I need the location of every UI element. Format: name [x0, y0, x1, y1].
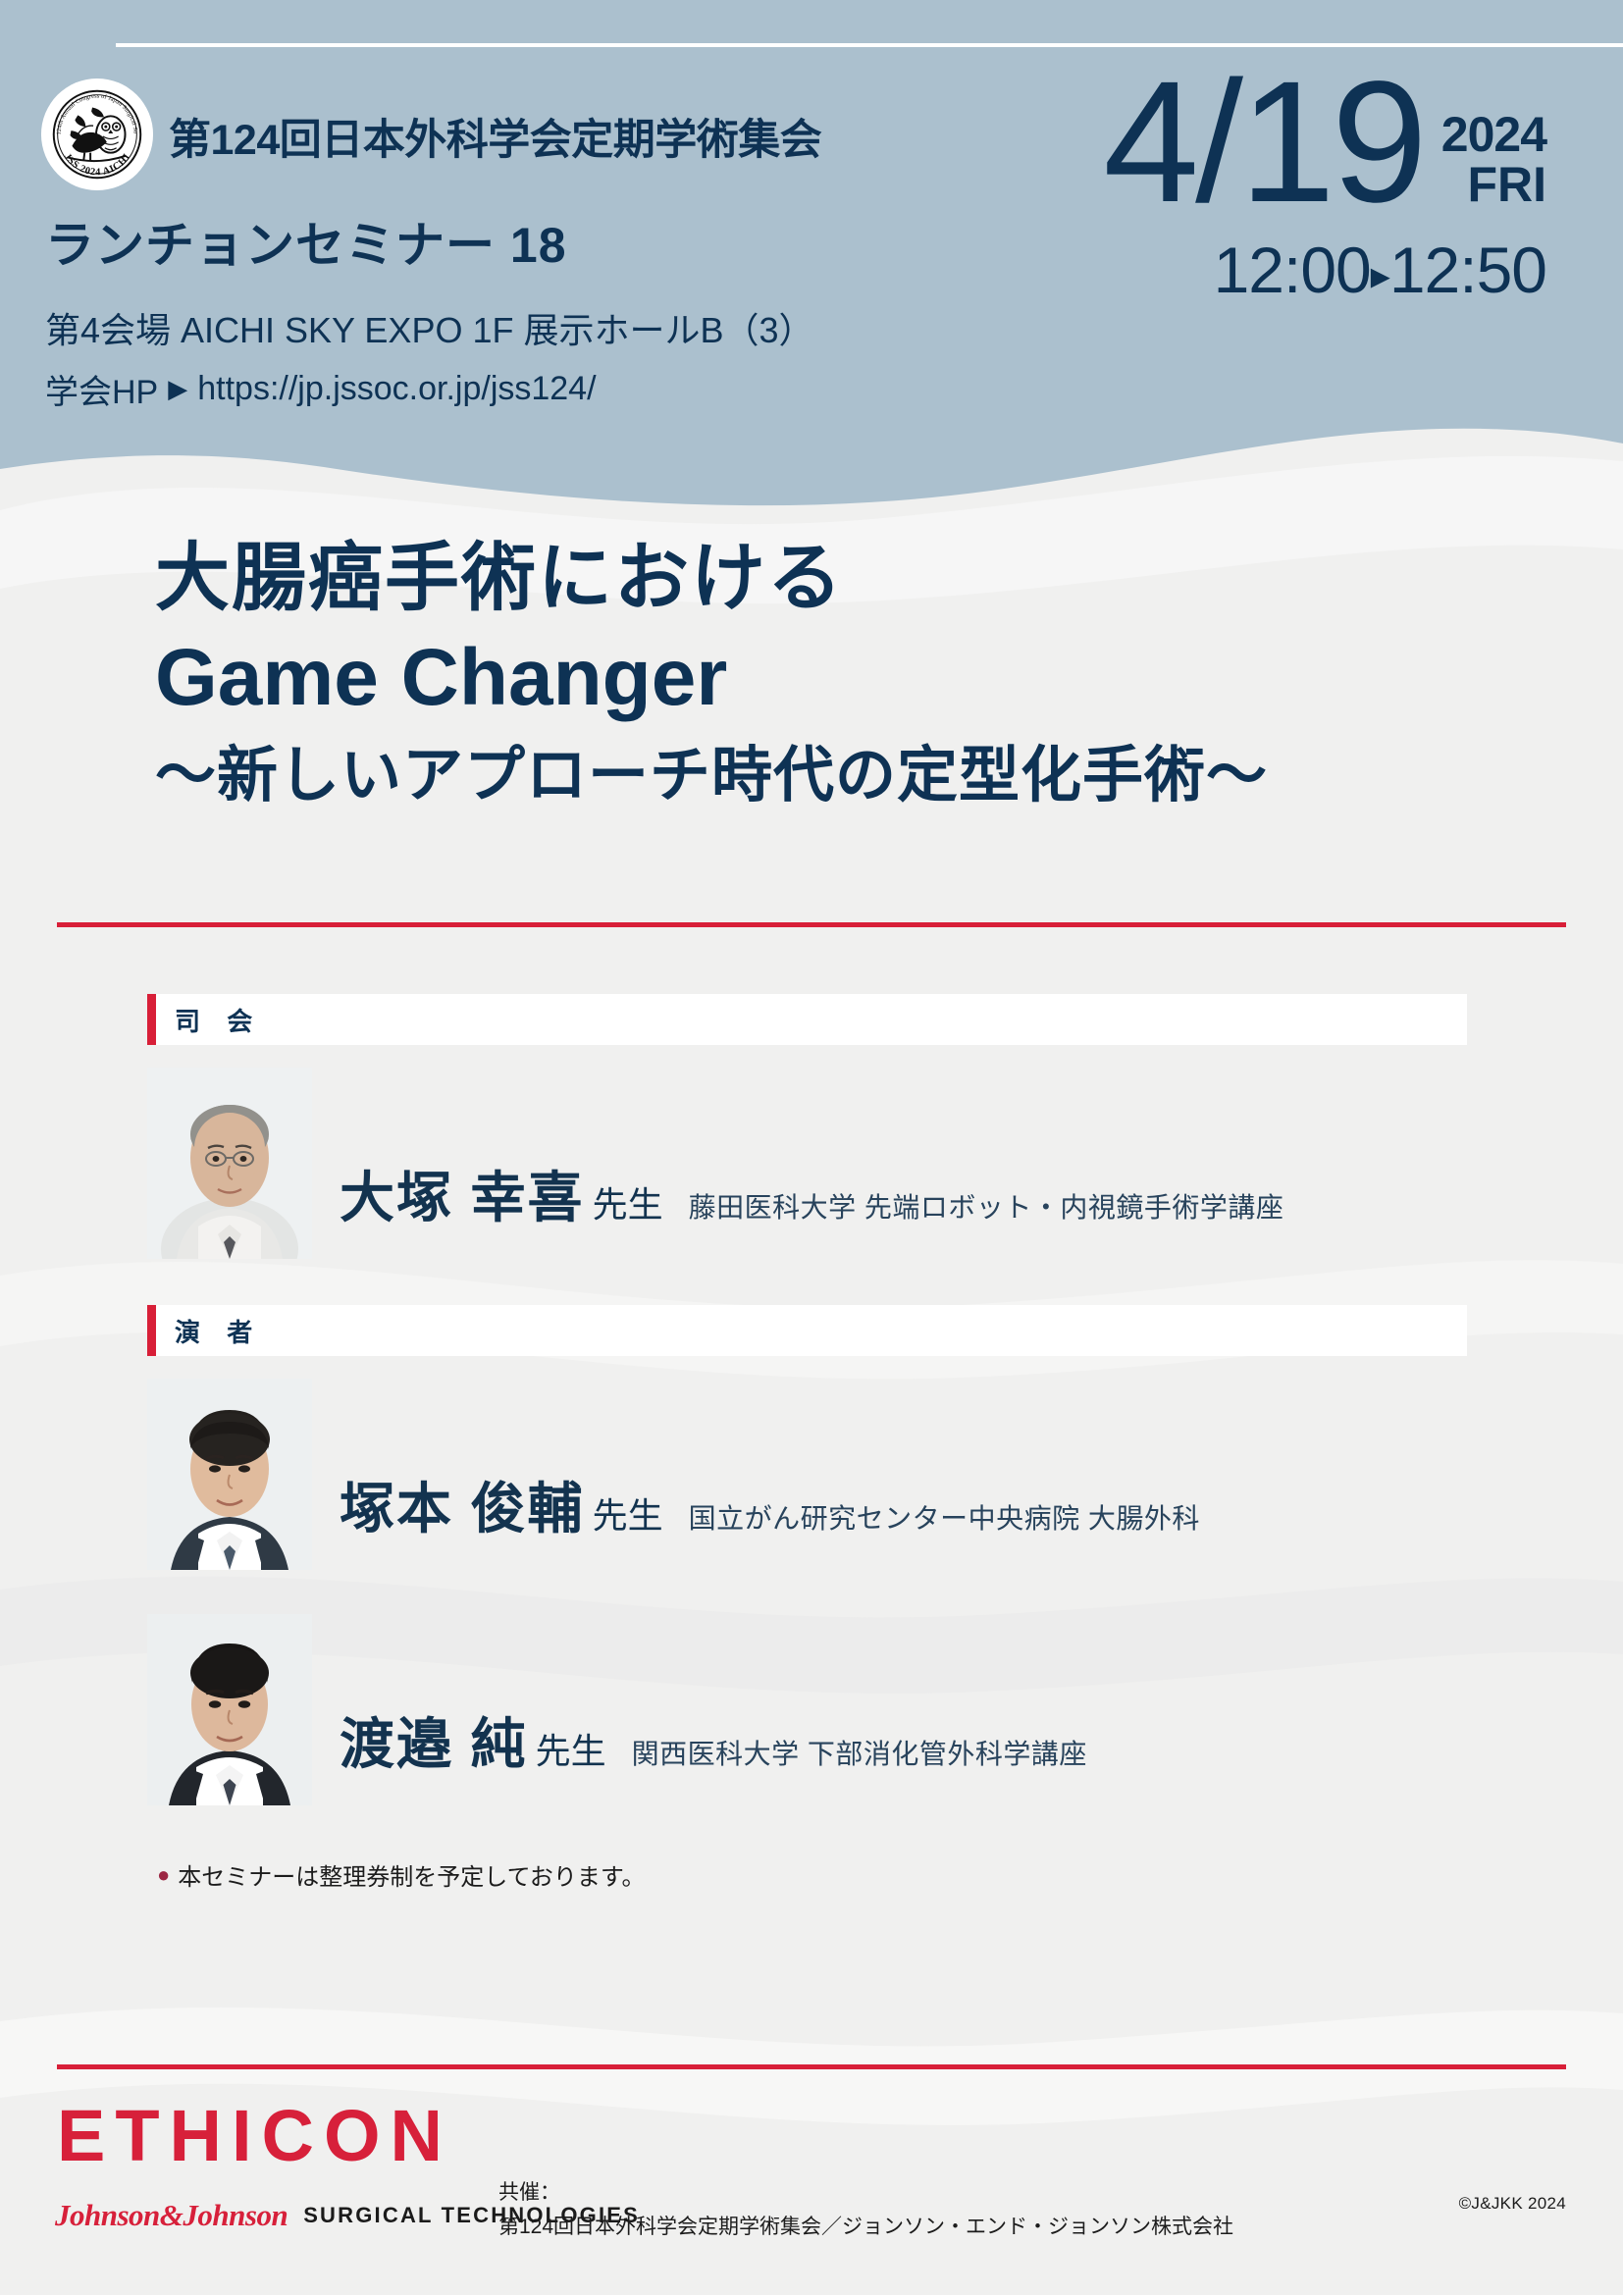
person-affiliation: 国立がん研究センター中央病院 大腸外科 — [689, 1497, 1200, 1537]
time-start: 12:00 — [1214, 234, 1371, 306]
divider-red-bottom — [57, 2064, 1566, 2069]
seminar-number: ランチョンセミナー 18 — [45, 206, 922, 277]
header-left-block: The 124th Annual Congress of Japan Surgi… — [39, 77, 922, 413]
person-name: 大塚 幸喜 — [340, 1154, 585, 1233]
role-label-speaker: 演 者 — [175, 1313, 262, 1349]
venue-line: 第4会場 AICHI SKY EXPO 1F 展示ホールB（3） — [45, 302, 922, 353]
jss-congress-logo-icon: The 124th Annual Congress of Japan Surgi… — [39, 77, 155, 192]
event-time-range: 12:00▸12:50 — [1103, 233, 1546, 307]
seminar-title-block: 大腸癌手術における Game Changer 〜新しいアプローチ時代の定型化手術… — [0, 535, 1623, 815]
note-text: 本セミナーは整理券制を予定しております。 — [178, 1857, 645, 1892]
person-row-speaker-1: 渡邉 純 先生 関西医科大学 下部消化管外科学講座 — [147, 1614, 1087, 1805]
divider-red-top — [57, 922, 1566, 927]
portrait-watanabe — [147, 1614, 312, 1805]
person-affiliation: 関西医科大学 下部消化管外科学講座 — [632, 1733, 1087, 1772]
cohost-value: 第124回日本外科学会定期学術集会／ジョンソン・エンド・ジョンソン株式会社 — [498, 2211, 1233, 2245]
person-name: 塚本 俊輔 — [340, 1465, 585, 1544]
person-info: 塚本 俊輔 先生 国立がん研究センター中央病院 大腸外科 — [312, 1465, 1200, 1570]
year-dow-block: 2024 FRI — [1441, 69, 1546, 211]
organization-name: 第124回日本外科学会定期学術集会 — [169, 106, 821, 167]
title-line-3: 〜新しいアプローチ時代の定型化手術〜 — [155, 737, 1623, 816]
person-info: 渡邉 純 先生 関西医科大学 下部消化管外科学講座 — [312, 1700, 1087, 1805]
triangle-right-icon: ▶ — [168, 376, 187, 401]
event-day-of-week: FRI — [1467, 157, 1546, 212]
organization-row: The 124th Annual Congress of Japan Surgi… — [39, 77, 922, 192]
person-honorific: 先生 — [593, 1487, 663, 1539]
role-heading-moderator: 司 会 — [147, 994, 1467, 1045]
time-arrow-icon: ▸ — [1371, 254, 1389, 297]
portrait-otsuka — [147, 1068, 312, 1259]
title-line-1: 大腸癌手術における — [155, 535, 1623, 623]
event-year: 2024 — [1441, 107, 1546, 162]
ethicon-logo: ETHICON — [57, 2100, 452, 2172]
cohost-label: 共催： — [498, 2176, 1233, 2211]
society-homepage-row[interactable]: 学会HP ▶ https://jp.jssoc.or.jp/jss124/ — [45, 365, 922, 413]
hp-label: 学会HP — [45, 365, 158, 413]
bullet-icon: ● — [157, 1862, 170, 1888]
title-line-2: Game Changer — [155, 629, 1623, 727]
person-row-moderator-0: 大塚 幸喜 先生 藤田医科大学 先端ロボット・内視鏡手術学講座 — [147, 1068, 1283, 1259]
poster-header: The 124th Annual Congress of Japan Surgi… — [0, 0, 1623, 461]
hp-url[interactable]: https://jp.jssoc.or.jp/jss124/ — [197, 370, 596, 408]
person-honorific: 先生 — [536, 1723, 606, 1774]
role-label-moderator: 司 会 — [175, 1002, 262, 1038]
role-heading-speaker: 演 者 — [147, 1305, 1467, 1356]
copyright-text: ©J&JKK 2024 — [1459, 2194, 1566, 2214]
event-date: 4/19 — [1103, 69, 1424, 217]
person-affiliation: 藤田医科大学 先端ロボット・内視鏡手術学講座 — [689, 1186, 1284, 1226]
cohost-block: 共催： 第124回日本外科学会定期学術集会／ジョンソン・エンド・ジョンソン株式会… — [498, 2176, 1233, 2244]
person-name: 渡邉 純 — [340, 1700, 528, 1780]
date-time-block: 4/19 2024 FRI 12:00▸12:50 — [1103, 69, 1546, 307]
poster-page: The 124th Annual Congress of Japan Surgi… — [0, 0, 1623, 2295]
time-end: 12:50 — [1389, 234, 1546, 306]
person-row-speaker-0: 塚本 俊輔 先生 国立がん研究センター中央病院 大腸外科 — [147, 1379, 1200, 1570]
person-honorific: 先生 — [593, 1176, 663, 1227]
date-row: 4/19 2024 FRI — [1103, 69, 1546, 217]
poster-footer: ETHICON Johnson&Johnson SURGICAL TECHNOL… — [0, 2100, 1623, 2296]
seminar-note: ● 本セミナーは整理券制を予定しております。 — [157, 1857, 645, 1892]
johnson-and-johnson-logo: Johnson&Johnson — [55, 2198, 288, 2233]
portrait-tsukamoto — [147, 1379, 312, 1570]
person-info: 大塚 幸喜 先生 藤田医科大学 先端ロボット・内視鏡手術学講座 — [312, 1154, 1283, 1259]
